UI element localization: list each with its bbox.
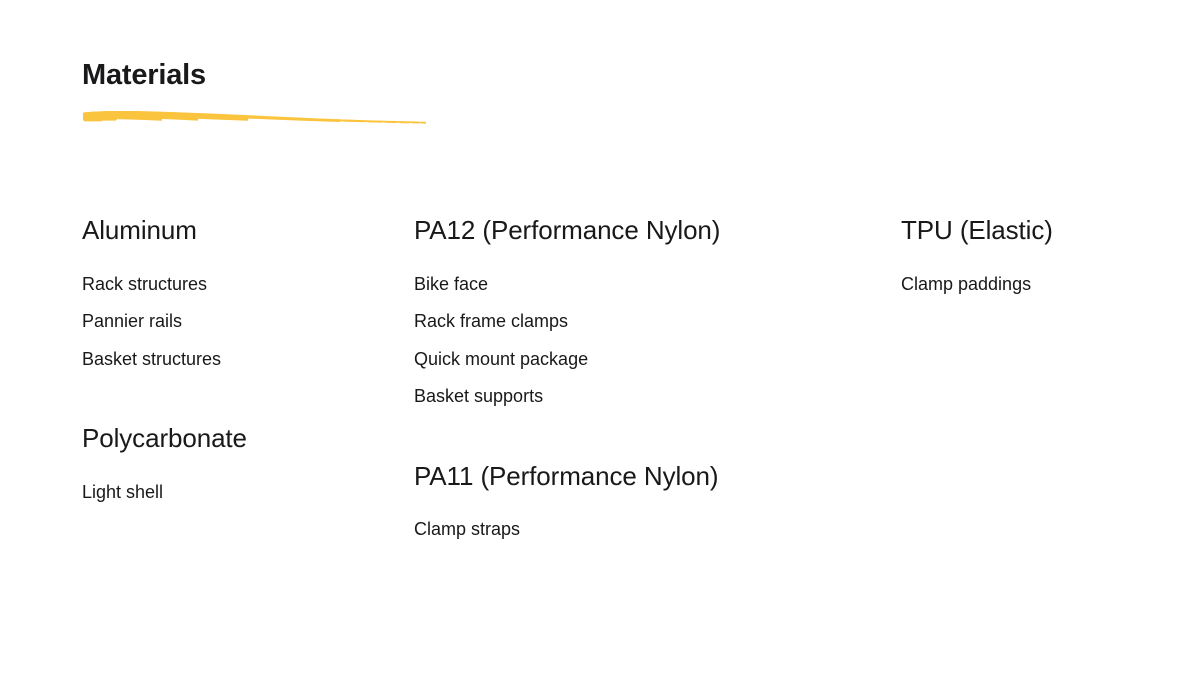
list-item: Clamp paddings: [901, 266, 1181, 304]
material-column: AluminumRack structuresPannier railsBask…: [82, 215, 382, 511]
material-item-list: Clamp paddings: [901, 266, 1181, 304]
list-item: Pannier rails: [82, 303, 382, 341]
materials-columns: AluminumRack structuresPannier railsBask…: [0, 0, 1200, 675]
material-group: PolycarbonateLight shell: [82, 423, 382, 511]
material-group-heading: TPU (Elastic): [901, 215, 1181, 246]
material-item-list: Rack structuresPannier railsBasket struc…: [82, 266, 382, 379]
material-group-heading: PA11 (Performance Nylon): [414, 461, 844, 492]
material-group: PA12 (Performance Nylon)Bike faceRack fr…: [414, 215, 844, 416]
list-item: Light shell: [82, 474, 382, 512]
list-item: Quick mount package: [414, 341, 844, 379]
material-item-list: Clamp straps: [414, 511, 844, 549]
material-item-list: Bike faceRack frame clampsQuick mount pa…: [414, 266, 844, 416]
material-group: PA11 (Performance Nylon)Clamp straps: [414, 461, 844, 549]
material-group-heading: Polycarbonate: [82, 423, 382, 454]
list-item: Basket supports: [414, 378, 844, 416]
list-item: Bike face: [414, 266, 844, 304]
material-column: PA12 (Performance Nylon)Bike faceRack fr…: [414, 215, 844, 549]
list-item: Rack structures: [82, 266, 382, 304]
list-item: Clamp straps: [414, 511, 844, 549]
material-item-list: Light shell: [82, 474, 382, 512]
material-group-heading: PA12 (Performance Nylon): [414, 215, 844, 246]
list-item: Basket structures: [82, 341, 382, 379]
slide-canvas: Materials AluminumRack structuresPannier…: [0, 0, 1200, 675]
material-column: TPU (Elastic)Clamp paddings: [901, 215, 1181, 303]
material-group: TPU (Elastic)Clamp paddings: [901, 215, 1181, 303]
material-group: AluminumRack structuresPannier railsBask…: [82, 215, 382, 378]
material-group-heading: Aluminum: [82, 215, 382, 246]
list-item: Rack frame clamps: [414, 303, 844, 341]
